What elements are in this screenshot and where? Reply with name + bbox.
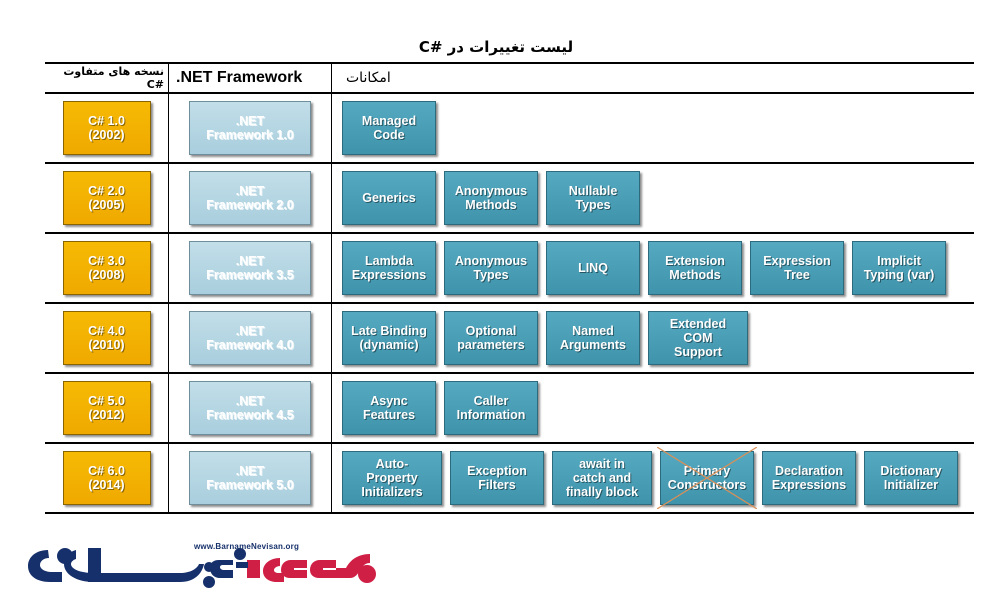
- version-chip[interactable]: C# 3.0(2008): [63, 241, 151, 295]
- feature-label-line2: Arguments: [560, 338, 626, 352]
- feature-label-line1: Generics: [362, 191, 416, 205]
- version-year: (2010): [88, 338, 125, 352]
- table-row: C# 4.0(2010).NETFramework 4.0Late Bindin…: [45, 304, 974, 374]
- framework-name: .NET: [206, 324, 294, 338]
- feature-label-line2: Features: [363, 408, 415, 422]
- feature-label-line2: Information: [457, 408, 526, 422]
- cell-framework: .NETFramework 5.0: [168, 444, 332, 512]
- cell-framework: .NETFramework 3.5: [168, 234, 332, 302]
- version-name: C# 3.0: [88, 254, 125, 268]
- version-name: C# 6.0: [88, 464, 125, 478]
- cell-framework: .NETFramework 2.0: [168, 164, 332, 232]
- framework-chip[interactable]: .NETFramework 2.0: [189, 171, 311, 225]
- framework-name: .NET: [206, 184, 294, 198]
- feature-label-line2: catch and: [566, 471, 638, 485]
- page-title: لیست تغییرات در #C: [0, 38, 992, 56]
- header-cell-features: امکانات: [332, 64, 974, 92]
- feature-label-line1: Exception: [467, 464, 527, 478]
- cell-features: LambdaExpressionsAnonymousTypesLINQExten…: [332, 234, 974, 302]
- feature-label-line2: (dynamic): [351, 338, 427, 352]
- table-row: C# 6.0(2014).NETFramework 5.0Auto-Proper…: [45, 444, 974, 514]
- feature-chip[interactable]: DictionaryInitializer: [864, 451, 958, 505]
- cell-framework: .NETFramework 1.0: [168, 94, 332, 162]
- version-year: (2014): [88, 478, 125, 492]
- logo-url-text: www.BarnameNevisan.org: [194, 542, 299, 551]
- framework-version: Framework 2.0: [206, 198, 294, 212]
- framework-name: .NET: [206, 394, 294, 408]
- feature-label-line2: Constructors: [668, 478, 746, 492]
- version-year: (2005): [88, 198, 125, 212]
- feature-label-line3: Support: [670, 345, 726, 359]
- cell-framework: .NETFramework 4.0: [168, 304, 332, 372]
- header-cell-framework: .NET Framework: [168, 64, 332, 92]
- feature-label-line1: Extended: [670, 317, 726, 331]
- feature-label-line1: Auto-: [361, 457, 422, 471]
- framework-chip[interactable]: .NETFramework 3.5: [189, 241, 311, 295]
- framework-version: Framework 3.5: [206, 268, 294, 282]
- feature-label-line2: Expressions: [772, 478, 846, 492]
- feature-label-line1: Caller: [457, 394, 526, 408]
- cell-version: C# 5.0(2012): [45, 374, 168, 442]
- feature-label-line3: finally block: [566, 485, 638, 499]
- feature-label-line2: Tree: [763, 268, 830, 282]
- feature-label-line1: await in: [566, 457, 638, 471]
- feature-chip[interactable]: ExtendedCOMSupport: [648, 311, 748, 365]
- version-name: C# 5.0: [88, 394, 125, 408]
- framework-chip[interactable]: .NETFramework 1.0: [189, 101, 311, 155]
- version-chip[interactable]: C# 2.0(2005): [63, 171, 151, 225]
- feature-chip[interactable]: AnonymousMethods: [444, 171, 538, 225]
- cell-version: C# 1.0(2002): [45, 94, 168, 162]
- feature-label-line1: Implicit: [864, 254, 935, 268]
- feature-label-line1: Expression: [763, 254, 830, 268]
- feature-label-line1: Late Binding: [351, 324, 427, 338]
- feature-chip[interactable]: await incatch andfinally block: [552, 451, 652, 505]
- feature-label-line1: Optional: [457, 324, 524, 338]
- header-label-features: امکانات: [332, 70, 974, 86]
- feature-chip[interactable]: ExtensionMethods: [648, 241, 742, 295]
- feature-chip[interactable]: CallerInformation: [444, 381, 538, 435]
- feature-label-line1: Primary: [668, 464, 746, 478]
- version-year: (2012): [88, 408, 125, 422]
- feature-chip[interactable]: ExceptionFilters: [450, 451, 544, 505]
- feature-label-line1: Extension: [665, 254, 725, 268]
- feature-label-line2: Property: [361, 471, 422, 485]
- framework-version: Framework 5.0: [206, 478, 294, 492]
- cell-features: Late Binding(dynamic)OptionalparametersN…: [332, 304, 974, 372]
- feature-chip[interactable]: Late Binding(dynamic): [342, 311, 436, 365]
- feature-label-line2: Methods: [665, 268, 725, 282]
- feature-label-line1: Nullable: [569, 184, 618, 198]
- header-label-versions: نسخه های متفاوت #C: [45, 65, 168, 91]
- version-name: C# 1.0: [88, 114, 125, 128]
- version-year: (2008): [88, 268, 125, 282]
- framework-chip[interactable]: .NETFramework 4.5: [189, 381, 311, 435]
- framework-name: .NET: [206, 254, 294, 268]
- framework-version: Framework 1.0: [206, 128, 294, 142]
- feature-label-line2: Initializer: [880, 478, 941, 492]
- feature-chip[interactable]: LambdaExpressions: [342, 241, 436, 295]
- feature-label-line2: Typing (var): [864, 268, 935, 282]
- feature-chip[interactable]: LINQ: [546, 241, 640, 295]
- version-name: C# 2.0: [88, 184, 125, 198]
- cell-features: AsyncFeaturesCallerInformation: [332, 374, 974, 442]
- table-body: C# 1.0(2002).NETFramework 1.0ManagedCode…: [45, 94, 974, 514]
- feature-chip[interactable]: ExpressionTree: [750, 241, 844, 295]
- feature-chip[interactable]: ImplicitTyping (var): [852, 241, 946, 295]
- feature-label-line1: Named: [560, 324, 626, 338]
- feature-chip[interactable]: Auto-PropertyInitializers: [342, 451, 442, 505]
- feature-label-line1: Declaration: [772, 464, 846, 478]
- feature-label-line2: COM: [670, 331, 726, 345]
- table-header-row: نسخه های متفاوت #C .NET Framework امکانا…: [45, 64, 974, 94]
- framework-version: Framework 4.5: [206, 408, 294, 422]
- site-logo: www.BarnameNevisan.org: [18, 534, 388, 596]
- table-row: C# 1.0(2002).NETFramework 1.0ManagedCode: [45, 94, 974, 164]
- version-name: C# 4.0: [88, 324, 125, 338]
- feature-label-line1: Managed: [362, 114, 416, 128]
- feature-label-line2: Code: [362, 128, 416, 142]
- cell-features: Auto-PropertyInitializersExceptionFilter…: [332, 444, 974, 512]
- feature-chip[interactable]: NullableTypes: [546, 171, 640, 225]
- version-chip[interactable]: C# 1.0(2002): [63, 101, 151, 155]
- feature-chip[interactable]: AnonymousTypes: [444, 241, 538, 295]
- cell-framework: .NETFramework 4.5: [168, 374, 332, 442]
- version-year: (2002): [88, 128, 125, 142]
- table-row: C# 5.0(2012).NETFramework 4.5AsyncFeatur…: [45, 374, 974, 444]
- feature-label-line1: Lambda: [352, 254, 426, 268]
- cell-version: C# 2.0(2005): [45, 164, 168, 232]
- feature-chip[interactable]: DeclarationExpressions: [762, 451, 856, 505]
- feature-chip[interactable]: ManagedCode: [342, 101, 436, 155]
- feature-label-line2: Expressions: [352, 268, 426, 282]
- framework-version: Framework 4.0: [206, 338, 294, 352]
- feature-chip[interactable]: NamedArguments: [546, 311, 640, 365]
- framework-chip[interactable]: .NETFramework 5.0: [189, 451, 311, 505]
- feature-label-line3: Initializers: [361, 485, 422, 499]
- feature-label-line2: Methods: [455, 198, 527, 212]
- cell-version: C# 4.0(2010): [45, 304, 168, 372]
- cell-version: C# 3.0(2008): [45, 234, 168, 302]
- feature-label-line2: Types: [569, 198, 618, 212]
- feature-label-line2: Types: [455, 268, 527, 282]
- feature-label-line1: Anonymous: [455, 184, 527, 198]
- feature-label-line1: Dictionary: [880, 464, 941, 478]
- table-row: C# 2.0(2005).NETFramework 2.0GenericsAno…: [45, 164, 974, 234]
- framework-name: .NET: [206, 114, 294, 128]
- framework-chip[interactable]: .NETFramework 4.0: [189, 311, 311, 365]
- changes-table: نسخه های متفاوت #C .NET Framework امکانا…: [45, 62, 974, 514]
- feature-label-line2: Filters: [467, 478, 527, 492]
- version-chip[interactable]: C# 5.0(2012): [63, 381, 151, 435]
- header-label-framework: .NET Framework: [169, 69, 331, 87]
- table-row: C# 3.0(2008).NETFramework 3.5LambdaExpre…: [45, 234, 974, 304]
- feature-chip[interactable]: AsyncFeatures: [342, 381, 436, 435]
- feature-chip[interactable]: Optionalparameters: [444, 311, 538, 365]
- feature-chip[interactable]: PrimaryConstructors: [660, 451, 754, 505]
- feature-label-line1: Anonymous: [455, 254, 527, 268]
- feature-chip[interactable]: Generics: [342, 171, 436, 225]
- version-chip[interactable]: C# 4.0(2010): [63, 311, 151, 365]
- version-chip[interactable]: C# 6.0(2014): [63, 451, 151, 505]
- feature-label-line2: parameters: [457, 338, 524, 352]
- cell-features: GenericsAnonymousMethodsNullableTypes: [332, 164, 974, 232]
- cell-features: ManagedCode: [332, 94, 974, 162]
- framework-name: .NET: [206, 464, 294, 478]
- feature-label-line1: LINQ: [578, 261, 608, 275]
- feature-label-line1: Async: [363, 394, 415, 408]
- header-cell-versions: نسخه های متفاوت #C: [45, 64, 168, 92]
- cell-version: C# 6.0(2014): [45, 444, 168, 512]
